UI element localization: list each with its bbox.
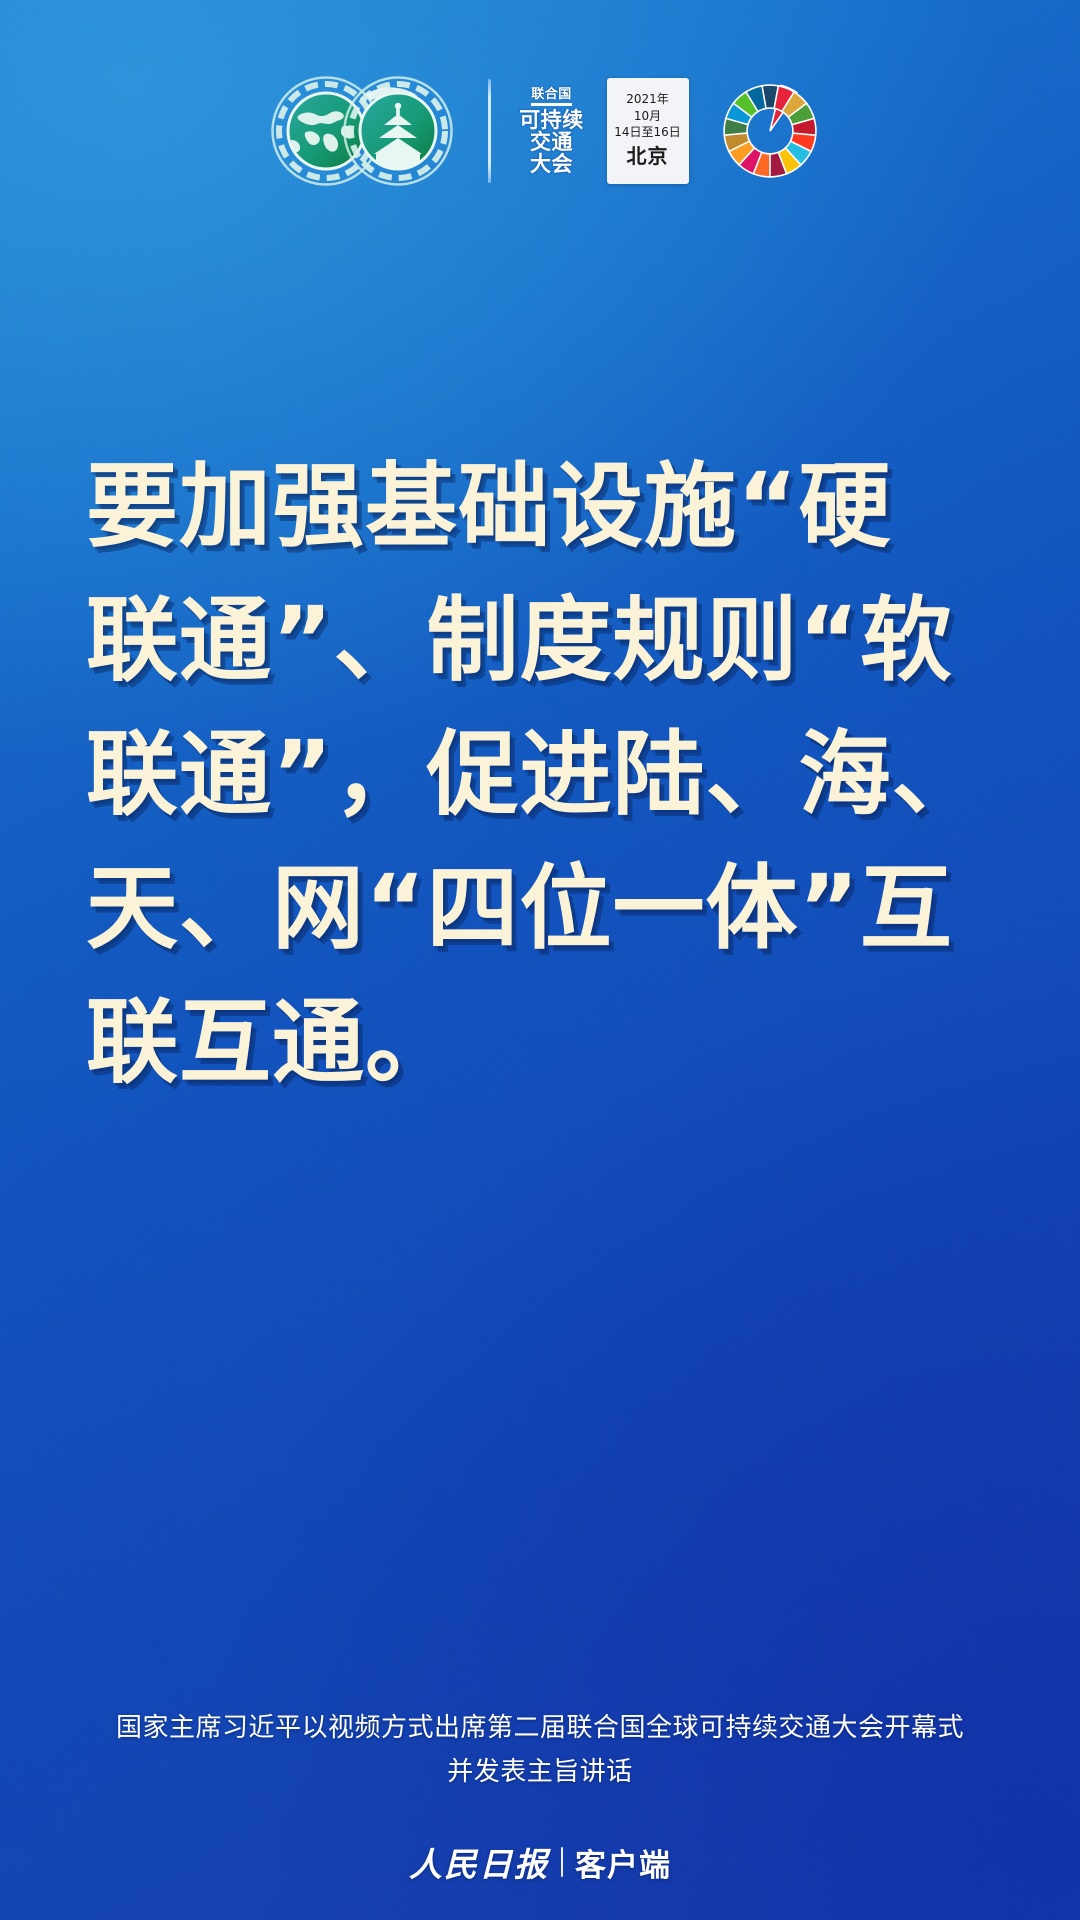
headline-line-3: 联通”，促进陆、海、 <box>86 708 1006 842</box>
caption-line-2: 并发表主旨讲话 <box>0 1750 1080 1794</box>
headline-quote: 要加强基础设施“硬 联通”、制度规则“软 联通”，促进陆、海、 天、网“四位一体… <box>86 440 1006 1110</box>
caption-line-1: 国家主席习近平以视频方式出席第二届联合国全球可持续交通大会开幕式 <box>0 1706 1080 1750</box>
sdg-color-wheel-icon <box>717 78 823 184</box>
un-sustainable-transport-globe-temple-emblem <box>258 68 466 194</box>
headline-line-2: 联通”、制度规则“软 <box>86 574 1006 708</box>
brand-separator <box>561 1847 563 1877</box>
date-month: 10月 <box>634 108 661 124</box>
conference-name: 联合国 可持续 交通 大会 <box>519 88 585 175</box>
poster-canvas: 联合国 可持续 交通 大会 2021年 10月 14日至16日 北京 <box>0 0 1080 1920</box>
date-year: 2021年 <box>626 91 669 107</box>
header-divider <box>488 79 491 183</box>
brand-peoples-daily: 人民日报 <box>409 1838 549 1886</box>
conference-name-line-3: 交通 <box>530 132 573 153</box>
header-bar: 联合国 可持续 交通 大会 2021年 10月 14日至16日 北京 <box>0 66 1080 196</box>
brand-logo: 人民日报 客户端 <box>0 1838 1080 1886</box>
headline-line-1: 要加强基础设施“硬 <box>86 440 1006 574</box>
date-location-box: 2021年 10月 14日至16日 北京 <box>607 78 689 184</box>
headline-line-4: 天、网“四位一体”互 <box>86 842 1006 976</box>
date-days: 14日至16日 <box>614 124 681 140</box>
conference-name-line-1: 联合国 <box>531 88 572 106</box>
headline-line-5: 联互通。 <box>86 976 1006 1110</box>
date-city: 北京 <box>627 143 669 170</box>
brand-app-name: 客户端 <box>575 1840 671 1885</box>
caption-block: 国家主席习近平以视频方式出席第二届联合国全球可持续交通大会开幕式 并发表主旨讲话 <box>0 1706 1080 1794</box>
conference-name-line-2: 可持续 <box>519 110 584 131</box>
conference-name-line-4: 大会 <box>530 154 573 175</box>
